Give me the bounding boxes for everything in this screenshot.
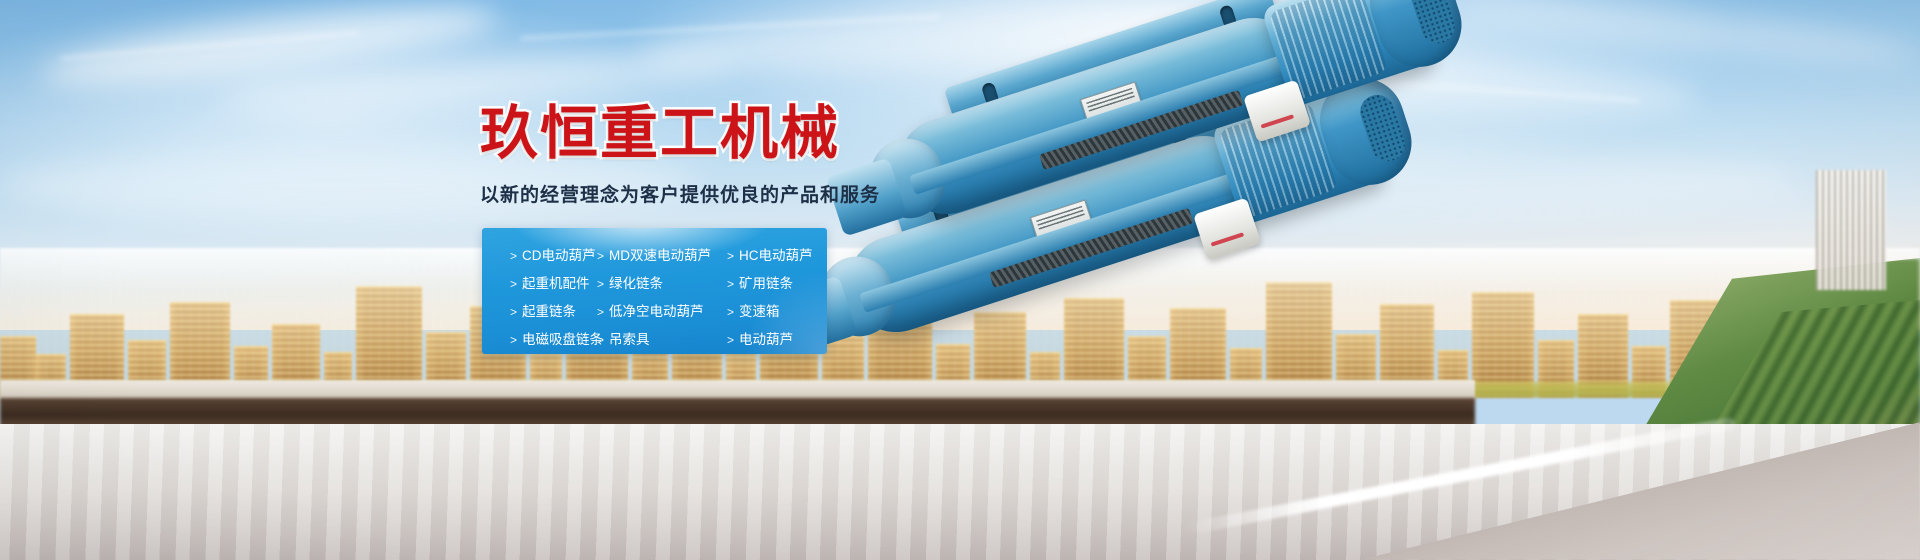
product-category-link[interactable]: >起重机配件 [482, 277, 597, 291]
chevron-right-icon: > [597, 278, 604, 290]
product-category-label: MD双速电动葫芦 [609, 249, 711, 263]
chevron-right-icon: > [727, 278, 734, 290]
product-category-label: 变速箱 [739, 305, 780, 319]
product-category-label: 电动葫芦 [739, 333, 793, 347]
banner-copy: 玖恒重工机械 以新的经营理念为客户提供优良的产品和服务 [480, 104, 900, 207]
product-category-link[interactable]: >变速箱 [727, 305, 827, 319]
product-category-panel: >CD电动葫芦>MD双速电动葫芦>HC电动葫芦>起重机配件>绿化链条>矿用链条>… [482, 228, 827, 354]
chevron-right-icon: > [727, 334, 734, 346]
banner-headline: 玖恒重工机械 [480, 104, 900, 164]
product-category-label: 低净空电动葫芦 [609, 305, 704, 319]
product-category-link[interactable]: >HC电动葫芦 [727, 249, 827, 263]
chevron-right-icon: > [597, 306, 604, 318]
product-category-label: 矿用链条 [739, 277, 793, 291]
product-category-link[interactable]: >电磁吸盘链条 [482, 333, 597, 347]
product-category-link[interactable]: >吊索具 [597, 333, 727, 347]
product-category-row: >起重链条>低净空电动葫芦>变速箱 [482, 298, 827, 326]
chevron-right-icon: > [510, 250, 517, 262]
product-category-link[interactable]: >矿用链条 [727, 277, 827, 291]
chevron-right-icon: > [727, 250, 734, 262]
banner-subline: 以新的经营理念为客户提供优良的产品和服务 [480, 180, 900, 207]
product-category-link[interactable]: >CD电动葫芦 [482, 249, 597, 263]
hero-banner: 玖恒重工机械 以新的经营理念为客户提供优良的产品和服务 >CD电动葫芦>MD双速… [0, 0, 1920, 560]
product-category-row: >起重机配件>绿化链条>矿用链条 [482, 270, 827, 298]
product-category-label: HC电动葫芦 [739, 249, 813, 263]
product-category-label: 电磁吸盘链条 [522, 333, 603, 347]
product-category-row: >CD电动葫芦>MD双速电动葫芦>HC电动葫芦 [482, 242, 827, 270]
product-category-link[interactable]: >绿化链条 [597, 277, 727, 291]
chevron-right-icon: > [597, 250, 604, 262]
product-category-row: >电磁吸盘链条>吊索具>电动葫芦 [482, 326, 827, 354]
chevron-right-icon: > [510, 306, 517, 318]
product-category-label: 起重机配件 [522, 277, 590, 291]
chevron-right-icon: > [510, 278, 517, 290]
product-category-link[interactable]: >MD双速电动葫芦 [597, 249, 727, 263]
product-category-label: 绿化链条 [609, 277, 663, 291]
product-category-link[interactable]: >起重链条 [482, 305, 597, 319]
product-category-label: 吊索具 [609, 333, 650, 347]
chevron-right-icon: > [510, 334, 517, 346]
product-category-link[interactable]: >低净空电动葫芦 [597, 305, 727, 319]
chevron-right-icon: > [597, 334, 604, 346]
product-category-link[interactable]: >电动葫芦 [727, 333, 827, 347]
chevron-right-icon: > [727, 306, 734, 318]
product-image-hoists [860, 58, 1920, 478]
product-category-label: 起重链条 [522, 305, 576, 319]
product-category-label: CD电动葫芦 [522, 249, 596, 263]
